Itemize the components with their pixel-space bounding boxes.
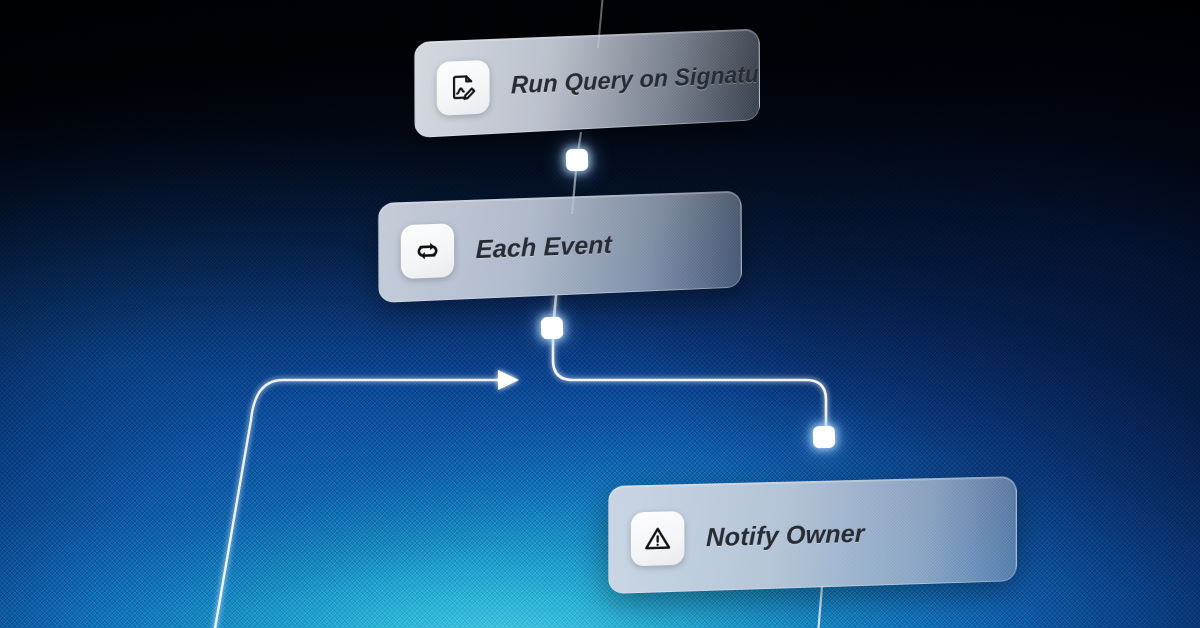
handle-each-event-out[interactable] (541, 317, 564, 340)
handle-run-query-out[interactable] (566, 149, 589, 172)
node-label: Notify Owner (706, 518, 865, 553)
node-notify-owner[interactable]: Notify Owner (608, 476, 1017, 594)
node-run-query-on-signature[interactable]: Run Query on Signature (414, 29, 760, 139)
workflow-canvas[interactable]: Run Query on Signature Each Event Notify (0, 0, 1200, 628)
edge-each-event-to-notify-owner[interactable] (553, 296, 826, 436)
node-label: Run Query on Signature (511, 60, 760, 100)
handle-notify-owner-in[interactable] (813, 426, 836, 449)
node-each-event[interactable]: Each Event (378, 191, 742, 303)
warning-triangle-icon (631, 511, 684, 566)
edge-loopback-arrowhead (498, 370, 519, 390)
loop-repeat-icon (401, 223, 454, 279)
edge-notify-owner-out[interactable] (818, 586, 822, 628)
edge-loopback-into-each-event[interactable] (213, 380, 512, 628)
node-label: Each Event (476, 229, 612, 265)
document-signature-icon (437, 60, 490, 116)
